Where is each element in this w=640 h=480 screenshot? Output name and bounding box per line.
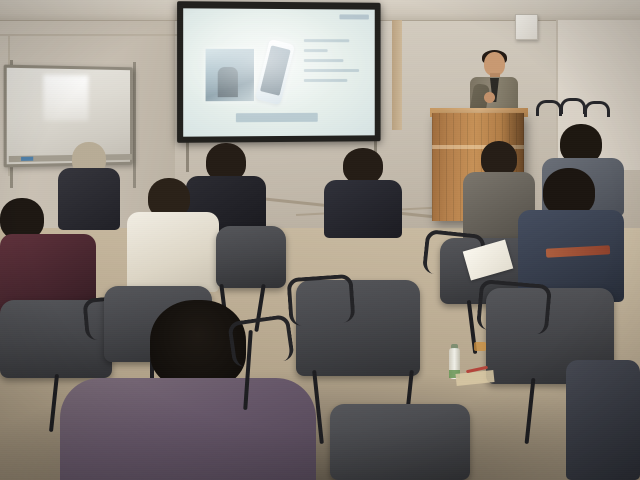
wall-speaker-icon <box>515 14 538 40</box>
wall-wood-trim <box>392 20 402 130</box>
projection-screen <box>177 1 381 143</box>
projection-screen-surface <box>183 8 375 136</box>
whiteboard <box>4 65 133 168</box>
chair-armrest <box>227 314 295 368</box>
stacked-chairs <box>536 96 614 122</box>
stacked-chair <box>536 100 562 116</box>
chair-armrest <box>476 279 552 335</box>
chair <box>330 404 470 480</box>
slide-bullet-line <box>304 69 359 72</box>
slide-bullet-line <box>304 79 347 82</box>
slide-title-text <box>236 113 318 122</box>
slide-bullet-line <box>304 49 328 52</box>
presentation-logo-icon <box>339 14 368 19</box>
attendee-head <box>543 168 595 216</box>
stacked-chair <box>584 101 610 117</box>
attendee-body <box>127 212 219 292</box>
attendee-body <box>58 168 120 230</box>
seminar-room-photo: Seminar room presentation conference-roo… <box>0 0 640 480</box>
whiteboard-marker-icon <box>21 157 33 161</box>
chair-armrest <box>286 274 355 326</box>
slide-bullet-line <box>304 39 349 42</box>
slide-bullet-list <box>304 39 365 89</box>
floor-item <box>474 342 486 351</box>
whiteboard-stand-right <box>133 62 136 188</box>
slide-magazine-cover-image <box>206 49 254 101</box>
screen-mount-left <box>186 140 189 172</box>
attendee-body <box>324 180 402 238</box>
slide-bullet-line <box>304 59 344 62</box>
chair <box>216 226 286 288</box>
attendee-body <box>60 378 316 480</box>
stacked-chair <box>560 98 586 114</box>
wall-molding-horizontal <box>0 34 178 36</box>
presenter-hand <box>484 92 495 103</box>
whiteboard-light-reflection <box>43 75 88 122</box>
wall-corner-seam <box>556 20 558 170</box>
slide-smartphone-image <box>255 39 295 105</box>
attendee-head <box>343 148 383 184</box>
attendee-body <box>566 360 640 480</box>
